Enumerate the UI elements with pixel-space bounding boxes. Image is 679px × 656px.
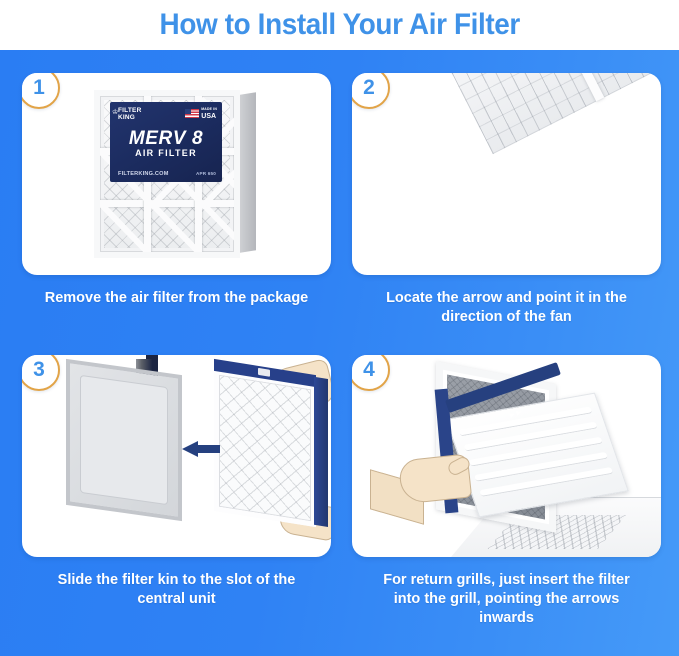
apr-rating-label: APR 650 [196, 171, 216, 176]
country-label: USA [201, 113, 216, 120]
air-filter-illustration [214, 369, 316, 527]
filter-pleat-mesh [214, 369, 316, 527]
usa-flag-icon [185, 109, 199, 118]
step-3-caption-line-2: central unit [137, 591, 215, 607]
step-2-caption-line-1: Locate the arrow and point it in the [386, 290, 627, 306]
made-in-label: MADE IN [201, 106, 217, 113]
brand-line-2: KING [118, 114, 135, 121]
filter-product-label: ♔ FILTER KING MADE IN USA [110, 102, 222, 182]
step-2-caption-line-2: direction of the fan [441, 309, 572, 325]
step-2-caption: Locate the arrow and point it in the dir… [352, 289, 661, 327]
step-2-card: 2 AIR FLOW Air Filter [352, 73, 661, 275]
website-label: FILTERKING.COM [118, 171, 169, 177]
slide-filter-illustration [22, 355, 331, 557]
unit-front-face [66, 359, 182, 521]
made-in-usa-text: MADE IN USA [201, 106, 217, 120]
air-filter-product-image: ♔ FILTER KING MADE IN USA [94, 90, 262, 258]
step-4-card: 4 [352, 355, 661, 557]
filter-pleat-mesh [420, 73, 661, 154]
made-in-usa-mark: MADE IN USA [185, 106, 217, 120]
step-2: 2 AIR FLOW Air Filter [352, 73, 661, 327]
step-3: 3 [22, 355, 331, 609]
step-4-caption-line-1: For return grills, just insert the filte… [383, 572, 630, 588]
step-3-caption: Slide the filter kin to the slot of the … [22, 571, 331, 609]
arrow-head [182, 441, 198, 457]
filter-navy-side-edge [314, 377, 328, 527]
step-4-caption-line-3: inwards [479, 610, 534, 626]
step-3-caption-line-1: Slide the filter kin to the slot of the [58, 572, 296, 588]
step-4-caption: For return grills, just insert the filte… [352, 571, 661, 628]
step-1-badge: 1 [22, 73, 60, 109]
unit-inner-panel [80, 375, 168, 505]
brand-logo: FILTER KING [118, 107, 141, 121]
brand-line-1: FILTER [118, 107, 141, 114]
step-4-caption-line-2: into the grill, pointing the arrows [394, 591, 620, 607]
merv-rating: MERV 8 [110, 128, 222, 150]
direction-arrow-icon [182, 441, 218, 455]
step-1-caption: Remove the air filter from the package [22, 289, 331, 308]
filter-corner-closeup-image: AIR FLOW Air Filter [352, 73, 661, 275]
return-grill-illustration: ►► [352, 355, 661, 557]
page-title: How to Install Your Air Filter [159, 8, 519, 42]
filter-support-wire [100, 200, 240, 207]
step-1-card: 1 [22, 73, 331, 275]
step-1: 1 [22, 73, 331, 308]
arrow-shaft [196, 445, 220, 453]
step-3-card: 3 [22, 355, 331, 557]
filter-angled-body: AIR FLOW Air Filter [390, 73, 661, 228]
central-unit-housing [66, 359, 182, 521]
header: How to Install Your Air Filter [0, 0, 679, 50]
step-4: 4 [352, 355, 661, 628]
product-type-label: AIR FILTER [110, 148, 222, 158]
label-footer: FILTERKING.COM APR 650 [118, 171, 216, 177]
steps-grid: 1 [0, 50, 679, 656]
infographic-page: How to Install Your Air Filter 1 [0, 0, 679, 656]
filter-front-face: ♔ FILTER KING MADE IN USA [94, 90, 240, 258]
steps-background: 1 [0, 50, 679, 656]
